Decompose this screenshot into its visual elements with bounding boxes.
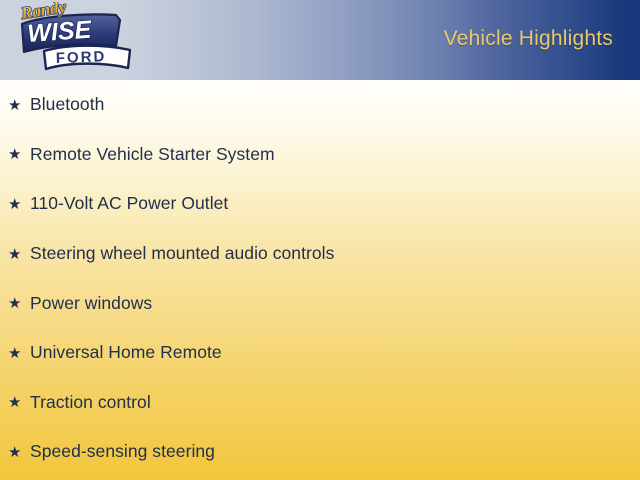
star-icon: ★ — [8, 395, 30, 410]
list-item: ★ 110-Volt AC Power Outlet — [0, 179, 640, 229]
feature-label: Steering wheel mounted audio controls — [30, 243, 334, 264]
list-item: ★ Bluetooth — [0, 80, 640, 130]
star-icon: ★ — [8, 197, 30, 212]
feature-label: Power windows — [30, 293, 152, 314]
list-item: ★ Speed-sensing steering — [0, 427, 640, 477]
feature-label: Traction control — [30, 392, 151, 413]
highlights-content: ★ Bluetooth ★ Remote Vehicle Starter Sys… — [0, 80, 640, 480]
list-item: ★ Power windows — [0, 278, 640, 328]
feature-label: Bluetooth — [30, 94, 104, 115]
star-icon: ★ — [8, 296, 30, 311]
logo-ford-text: FORD — [56, 48, 107, 67]
star-icon: ★ — [8, 98, 30, 113]
vehicle-highlights-list: ★ Bluetooth ★ Remote Vehicle Starter Sys… — [0, 80, 640, 477]
page-header: WISE Randy FORD Vehicle Highlights — [0, 0, 640, 80]
logo-graphic: WISE Randy FORD — [8, 2, 136, 78]
feature-label: Universal Home Remote — [30, 342, 222, 363]
star-icon: ★ — [8, 247, 30, 262]
randy-wise-ford-logo: WISE Randy FORD — [8, 2, 136, 78]
star-icon: ★ — [8, 147, 30, 162]
vehicle-highlights-page: WISE Randy FORD Vehicle Highlights ★ Blu… — [0, 0, 640, 480]
feature-label: Speed-sensing steering — [30, 441, 215, 462]
svg-text:FORD: FORD — [56, 48, 107, 67]
list-item: ★ Universal Home Remote — [0, 328, 640, 378]
list-item: ★ Traction control — [0, 378, 640, 428]
star-icon: ★ — [8, 346, 30, 361]
list-item: ★ Steering wheel mounted audio controls — [0, 229, 640, 279]
feature-label: 110-Volt AC Power Outlet — [30, 193, 228, 214]
feature-label: Remote Vehicle Starter System — [30, 144, 275, 165]
list-item: ★ Remote Vehicle Starter System — [0, 130, 640, 180]
star-icon: ★ — [8, 445, 30, 460]
page-title: Vehicle Highlights — [444, 27, 613, 51]
